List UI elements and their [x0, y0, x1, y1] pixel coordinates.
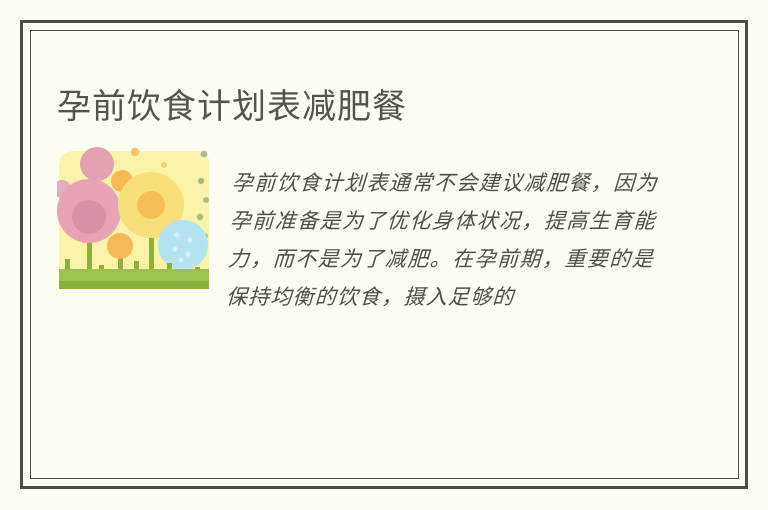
article-thumbnail [57, 143, 209, 299]
page-title: 孕前饮食计划表减肥餐 [57, 85, 407, 129]
document-page: 孕前饮食计划表减肥餐 [0, 0, 768, 510]
article-content: 孕前饮食计划表通常不会建议减肥餐，因为孕前准备是为了优化身体状况，提高生育能力，… [57, 143, 657, 403]
article-body-text: 孕前饮食计划表通常不会建议减肥餐，因为孕前准备是为了优化身体状况，提高生育能力，… [225, 164, 659, 316]
flowers-garden-illustration [57, 143, 209, 299]
